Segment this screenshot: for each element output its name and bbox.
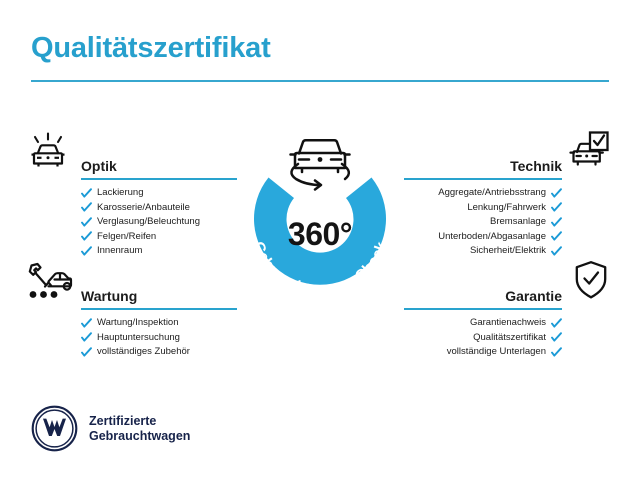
list-item-label: Felgen/Reifen [97, 230, 156, 245]
check-icon [551, 188, 562, 199]
check-icon [81, 246, 92, 257]
checklist-garantie: Garantienachweis Qualitätszertifikat vol… [404, 310, 562, 360]
section-divider-garantie [404, 308, 562, 310]
check-icon [81, 231, 92, 242]
list-item-label: Bremsanlage [490, 215, 546, 230]
section-divider-wartung [81, 308, 237, 310]
list-item: Verglasung/Beleuchtung [81, 215, 237, 230]
list-item: vollständiges Zubehör [81, 345, 237, 360]
list-item-label: Garantienachweis [470, 316, 546, 331]
badge-360-check: Gebrauchtwagen-Check 360° [228, 122, 412, 306]
section-divider-optik [81, 178, 237, 180]
list-item-label: Verglasung/Beleuchtung [97, 215, 200, 230]
list-item-label: Aggregate/Antriebsstrang [438, 186, 546, 201]
section-wartung: Wartung Wartung/Inspektion Hauptuntersuc… [81, 276, 237, 360]
checklist-technik: Aggregate/Antriebsstrang Lenkung/Fahrwer… [404, 180, 562, 259]
section-header-technik: Technik [404, 146, 562, 180]
list-item: vollständige Unterlagen [404, 345, 562, 360]
check-icon [551, 332, 562, 343]
check-icon [81, 188, 92, 199]
list-item: Garantienachweis [404, 316, 562, 331]
list-item: Innenraum [81, 244, 237, 259]
list-item: Unterboden/Abgasanlage [404, 230, 562, 245]
list-item: Karosserie/Anbauteile [81, 201, 237, 216]
footer-logo-block: Zertifizierte Gebrauchtwagen [31, 405, 190, 452]
car-shine-icon [26, 131, 70, 176]
list-item: Aggregate/Antriebsstrang [404, 186, 562, 201]
check-icon [81, 202, 92, 213]
list-item: Qualitätszertifikat [404, 331, 562, 346]
page-title: Qualitätszertifikat [31, 32, 271, 65]
certificate-page: Qualitätszertifikat Optik Lackierung Kar… [0, 0, 640, 480]
section-title-optik: Optik [81, 158, 117, 174]
list-item-label: Karosserie/Anbauteile [97, 201, 190, 216]
checklist-optik: Lackierung Karosserie/Anbauteile Verglas… [81, 180, 237, 259]
footer-line-1: Zertifizierte [89, 414, 190, 429]
section-garantie: Garantie Garantienachweis Qualitätszerti… [404, 276, 562, 360]
list-item-label: Lackierung [97, 186, 143, 201]
check-icon [551, 318, 562, 329]
list-item-label: vollständige Unterlagen [447, 345, 546, 360]
checklist-wartung: Wartung/Inspektion Hauptuntersuchung vol… [81, 310, 237, 360]
check-icon [81, 217, 92, 228]
list-item-label: Hauptuntersuchung [97, 331, 180, 346]
list-item: Felgen/Reifen [81, 230, 237, 245]
check-icon [551, 231, 562, 242]
section-technik: Technik Aggregate/Antriebsstrang Lenkung… [404, 146, 562, 259]
list-item-label: Unterboden/Abgasanlage [438, 230, 546, 245]
list-item-label: Innenraum [97, 244, 142, 259]
section-optik: Optik Lackierung Karosserie/Anbauteile V… [81, 146, 237, 259]
check-icon [551, 217, 562, 228]
check-icon [551, 246, 562, 257]
section-title-garantie: Garantie [505, 288, 562, 304]
badge-center-label: 360° [228, 216, 412, 253]
list-item: Sicherheit/Elektrik [404, 244, 562, 259]
section-divider-technik [404, 178, 562, 180]
list-item-label: Sicherheit/Elektrik [470, 244, 546, 259]
list-item-label: Lenkung/Fahrwerk [467, 201, 546, 216]
list-item-label: Qualitätszertifikat [473, 331, 546, 346]
section-title-wartung: Wartung [81, 288, 137, 304]
check-icon [81, 332, 92, 343]
car-checkbox-icon [568, 130, 610, 177]
check-icon [551, 347, 562, 358]
list-item: Hauptuntersuchung [81, 331, 237, 346]
list-item: Bremsanlage [404, 215, 562, 230]
section-header-optik: Optik [81, 146, 237, 180]
list-item-label: vollständiges Zubehör [97, 345, 190, 360]
footer-line-2: Gebrauchtwagen [89, 429, 190, 444]
list-item: Lackierung [81, 186, 237, 201]
shield-check-icon [574, 260, 608, 305]
check-icon [551, 202, 562, 213]
list-item: Lenkung/Fahrwerk [404, 201, 562, 216]
section-header-garantie: Garantie [404, 276, 562, 310]
header-divider [31, 80, 609, 82]
section-title-technik: Technik [510, 158, 562, 174]
footer-text: Zertifizierte Gebrauchtwagen [89, 414, 190, 444]
list-item: Wartung/Inspektion [81, 316, 237, 331]
check-icon [81, 318, 92, 329]
check-icon [81, 347, 92, 358]
list-item-label: Wartung/Inspektion [97, 316, 179, 331]
vw-roundel-icon [31, 405, 78, 452]
section-header-wartung: Wartung [81, 276, 237, 310]
wrench-car-icon [24, 261, 74, 310]
